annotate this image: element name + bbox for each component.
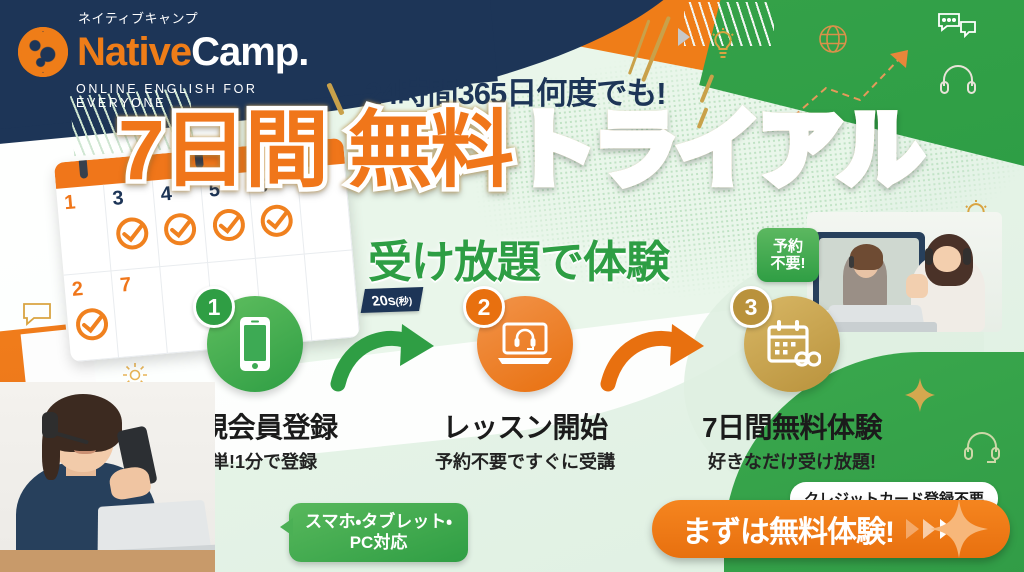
- calendar-infinity-icon: [763, 317, 821, 371]
- no-reservation-line1: 予約: [773, 238, 803, 255]
- smartphone-icon: [234, 315, 276, 373]
- headline-main-gold: トライアル: [512, 103, 921, 197]
- calendar-cell: 1: [56, 185, 112, 276]
- device-support-line1: スマホ・タブレット・: [305, 511, 452, 532]
- step-3-title: 7日間無料体験: [672, 406, 912, 446]
- brand-kana: ネイティブキャンプ: [78, 8, 338, 27]
- step-3-number: 3: [730, 286, 772, 328]
- headline-sub: 受け放題で体験: [368, 226, 669, 290]
- check-icon: [159, 205, 202, 248]
- no-reservation-badge: 予約 不要!: [757, 228, 819, 282]
- brand-name: NativeCamp.: [77, 32, 308, 72]
- step-1-number: 1: [193, 286, 235, 328]
- cta-label: まずは無料体験!: [682, 507, 894, 551]
- step-1-circle: 1: [207, 296, 303, 392]
- device-support-bubble: スマホ・タブレット・ PC対応: [289, 503, 468, 562]
- calendar-day-number: 7: [119, 274, 132, 297]
- arrow-step-1-to-2: [330, 322, 440, 392]
- cta-button[interactable]: まずは無料体験!: [652, 500, 1010, 558]
- laptop-headset-icon: [496, 320, 554, 368]
- step-3-desc: 好きなだけ受け放題!: [672, 448, 912, 474]
- headline-main-orange: 7日間 無料: [118, 103, 512, 197]
- brand-logo: ネイティブキャンプ NativeCamp. ONLINE ENGLISH FOR…: [18, 8, 338, 92]
- no-reservation-line2: 不要!: [771, 255, 806, 272]
- step-2-circle: 2: [477, 296, 573, 392]
- sparkle-icon: [930, 500, 988, 558]
- promo-banner: ネイティブキャンプ NativeCamp. ONLINE ENGLISH FOR…: [0, 0, 1024, 572]
- check-icon: [255, 197, 298, 240]
- step-3-circle: 3: [744, 296, 840, 392]
- brand-name-camp: Camp.: [191, 30, 308, 74]
- check-icon: [110, 210, 153, 253]
- step-2-desc: 予約不要ですぐに受講: [405, 448, 645, 474]
- woman-with-phone-photo: [0, 382, 215, 572]
- step-2-title: レッスン開始: [405, 406, 645, 446]
- hatch-decor-top: [684, 2, 774, 46]
- arrow-step-2-to-3: [600, 322, 710, 392]
- device-support-line2: PC対応: [305, 532, 452, 553]
- headline-main: 7日間 無料トライアル: [118, 108, 921, 192]
- calendar-day-number: 1: [63, 191, 76, 214]
- step-2-number: 2: [463, 286, 505, 328]
- globe-icon: [18, 27, 68, 77]
- brand-name-native: Native: [77, 30, 191, 74]
- check-icon: [207, 201, 250, 244]
